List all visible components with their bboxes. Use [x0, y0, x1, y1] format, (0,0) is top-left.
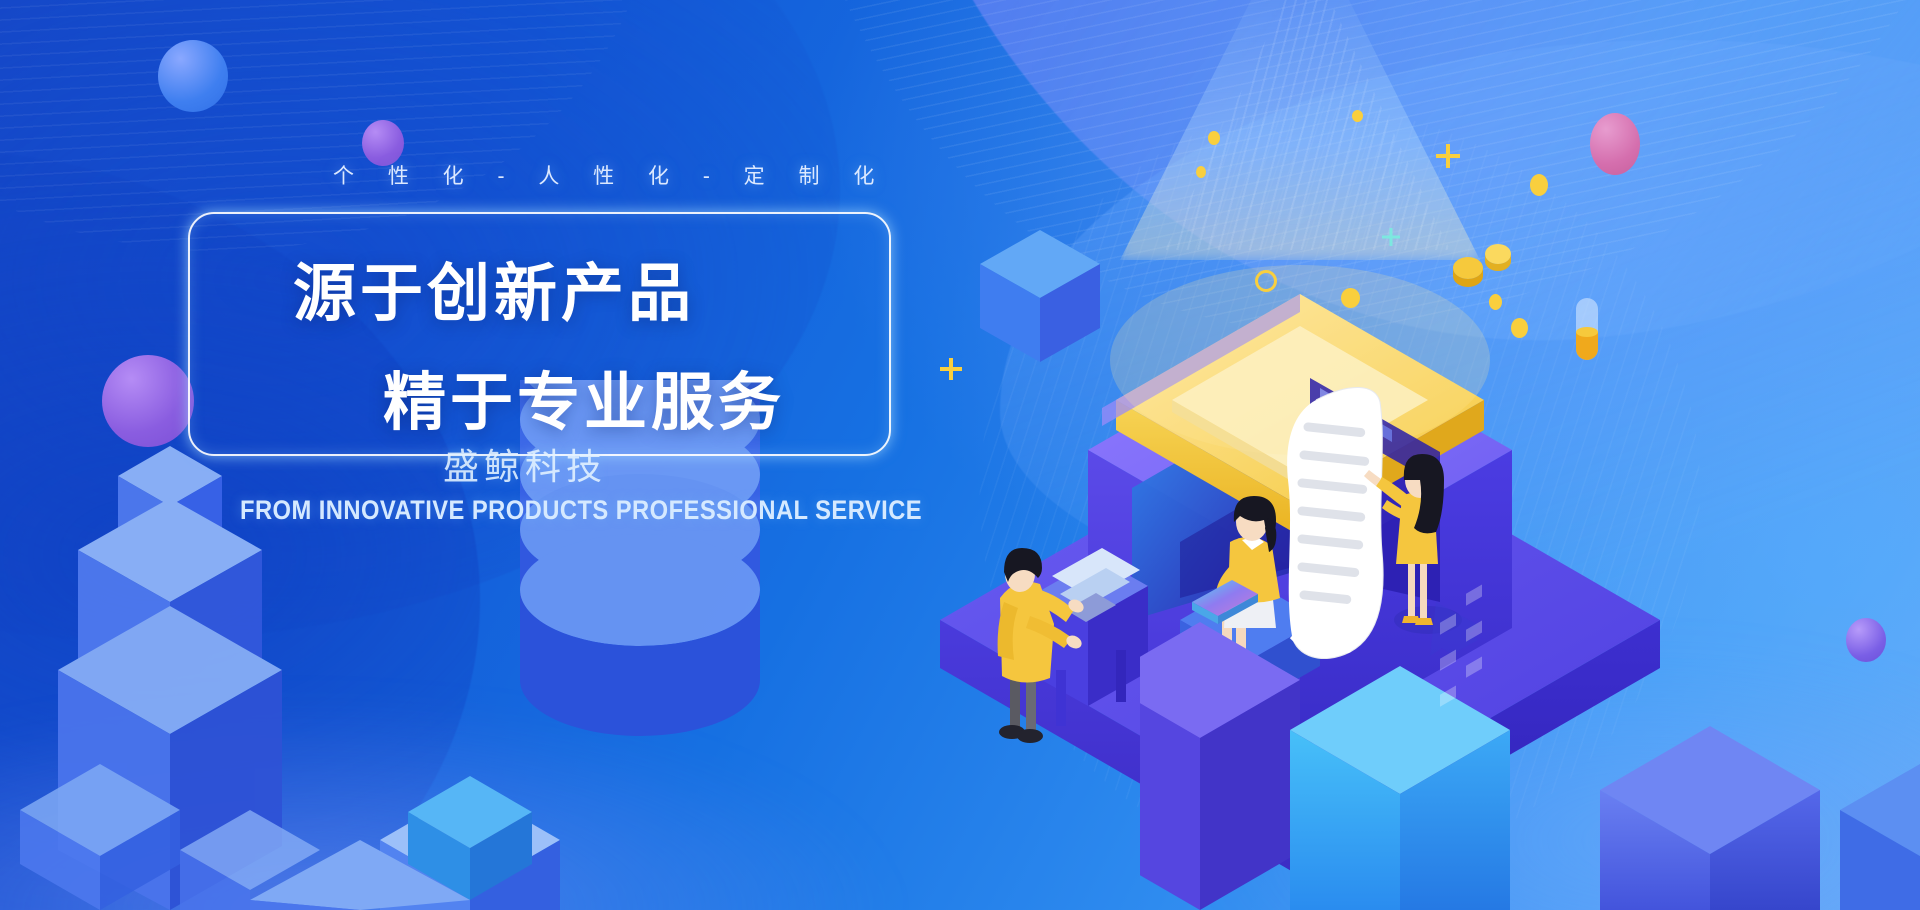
plus-cyan-icon [1382, 228, 1400, 246]
dot-yellow-6 [1341, 288, 1360, 308]
tagline: 个 性 化 - 人 性 化 - 定 制 化 [333, 160, 888, 190]
plus-yellow-icon-2 [1436, 144, 1460, 168]
dot-yellow-4 [1208, 131, 1220, 145]
headline-line-2: 精于专业服务 [383, 352, 785, 443]
subtitle-english: FROM INNOVATIVE PRODUCTS PROFESSIONAL SE… [240, 495, 922, 526]
sphere-pink-top-right [1590, 113, 1640, 175]
ring-yellow-icon [1255, 270, 1277, 292]
hero-text-block: 个 性 化 - 人 性 化 - 定 制 化 源于创新产品 精于专业服务 盛鲸科技… [0, 0, 960, 910]
dot-yellow-5 [1196, 166, 1206, 178]
dot-yellow-2 [1489, 294, 1502, 310]
brand-name: 盛鲸科技 [443, 438, 607, 490]
headline-line-1: 源于创新产品 [293, 243, 695, 334]
dot-yellow-1 [1530, 174, 1548, 196]
sphere-violet-right [1846, 618, 1886, 662]
floating-cube [980, 230, 1100, 362]
hero-banner: 个 性 化 - 人 性 化 - 定 制 化 源于创新产品 精于专业服务 盛鲸科技… [0, 0, 1920, 910]
city-foreground-right [1140, 560, 1920, 910]
test-tube [1576, 298, 1598, 360]
dot-yellow-7 [1352, 110, 1363, 122]
coin-stack [1453, 244, 1511, 287]
dot-yellow-3 [1511, 318, 1528, 338]
